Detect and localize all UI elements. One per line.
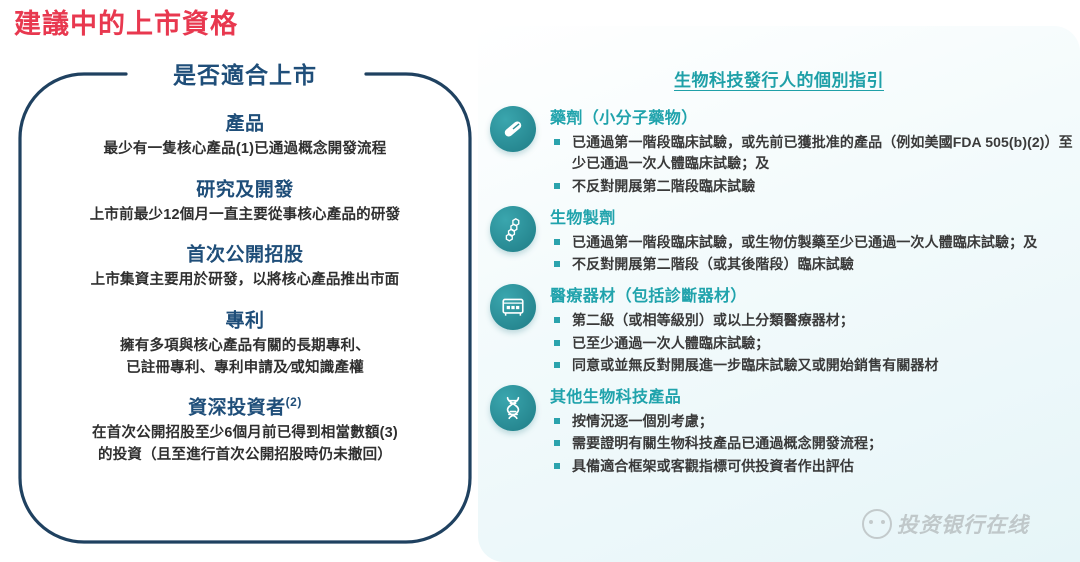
criteria-block-patent: 專利 擁有多項與核心產品有關的長期專利、 已註冊專利、專利申請及∕或知識產權 [14,307,476,379]
right-panel-guidance: 生物科技發行人的個別指引 藥劑（小分子藥物） 已通過第一階段臨床試驗，或先前已獲… [478,26,1080,562]
list-item: 需要證明有關生物科技產品已通過概念開發流程； [550,433,1080,454]
guidance-bullet-list: 第二級（或相等級別）或以上分類醫療器材； 已至少通過一次人體臨床試驗； 同意或並… [550,310,1080,376]
list-item: 已通過第一階段臨床試驗，或生物仿製藥至少已通過一次人體臨床試驗；及 [550,232,1080,253]
guidance-section-other-biotech: 其他生物科技產品 按情況逐一個別考慮； 需要證明有關生物科技產品已通過概念開發流… [478,385,1080,477]
right-panel-heading: 生物科技發行人的個別指引 [478,66,1080,91]
molecule-chain-icon [490,206,536,252]
pill-icon [490,106,536,152]
guidance-section-title: 醫療器材（包括診斷器材） [550,284,1080,307]
list-item: 按情況逐一個別考慮； [550,411,1080,432]
list-item: 不反對開展第二階段臨床試驗 [550,176,1080,197]
criteria-text: 上市前最少12個月一直主要從事核心產品的研發 [14,205,476,227]
criteria-title: 專利 [14,307,476,335]
left-panel-heading: 是否適合上市 [14,56,476,90]
left-panel-blocks: 產品 最少有一隻核心產品(1)已通過概念開發流程 研究及開發 上市前最少12個月… [14,110,476,482]
list-item: 不反對開展第二階段（或其後階段）臨床試驗 [550,254,1080,275]
criteria-block-product: 產品 最少有一隻核心產品(1)已通過概念開發流程 [14,110,476,161]
list-item: 已通過第一階段臨床試驗，或先前已獲批准的產品（例如美國FDA 505(b)(2)… [550,132,1080,175]
list-item: 同意或並無反對開展進一步臨床試驗又或開始銷售有關器材 [550,355,1080,376]
guidance-sections: 藥劑（小分子藥物） 已通過第一階段臨床試驗，或先前已獲批准的產品（例如美國FDA… [478,106,1080,486]
list-item: 第二級（或相等級別）或以上分類醫療器材； [550,310,1080,331]
list-item: 具備適合框架或客觀指標可供投資者作出評估 [550,456,1080,477]
page-title: 建議中的上市資格 [14,2,238,41]
criteria-text: 擁有多項與核心產品有關的長期專利、 已註冊專利、專利申請及∕或知識產權 [14,336,476,380]
criteria-text: 最少有一隻核心產品(1)已通過概念開發流程 [14,139,476,161]
guidance-section-title: 生物製劑 [550,206,1080,229]
guidance-bullet-list: 按情況逐一個別考慮； 需要證明有關生物科技產品已通過概念開發流程； 具備適合框架… [550,411,1080,477]
criteria-title: 研究及開發 [14,176,476,204]
criteria-text: 在首次公開招股至少6個月前已得到相當數額(3) 的投資（且至進行首次公開招股時仍… [14,423,476,467]
criteria-title: 產品 [14,110,476,138]
criteria-title: 資深投資者(2) [14,394,476,422]
left-panel-suitability: 是否適合上市 產品 最少有一隻核心產品(1)已通過概念開發流程 研究及開發 上市… [14,68,476,546]
guidance-section-biologics: 生物製劑 已通過第一階段臨床試驗，或生物仿製藥至少已通過一次人體臨床試驗；及 不… [478,206,1080,276]
guidance-section-title: 藥劑（小分子藥物） [550,106,1080,129]
criteria-block-ipo: 首次公開招股 上市集資主要用於研發，以將核心產品推出市面 [14,241,476,292]
dna-helix-icon [490,385,536,431]
guidance-bullet-list: 已通過第一階段臨床試驗，或先前已獲批准的產品（例如美國FDA 505(b)(2)… [550,132,1080,197]
criteria-block-sophisticated-investor: 資深投資者(2) 在首次公開招股至少6個月前已得到相當數額(3) 的投資（且至進… [14,394,476,466]
criteria-title: 首次公開招股 [14,241,476,269]
guidance-section-medical-device: 醫療器材（包括診斷器材） 第二級（或相等級別）或以上分類醫療器材； 已至少通過一… [478,284,1080,376]
guidance-bullet-list: 已通過第一階段臨床試驗，或生物仿製藥至少已通過一次人體臨床試驗；及 不反對開展第… [550,232,1080,276]
guidance-section-title: 其他生物科技產品 [550,385,1080,408]
list-item: 已至少通過一次人體臨床試驗； [550,333,1080,354]
criteria-text: 上市集資主要用於研發，以將核心產品推出市面 [14,270,476,292]
guidance-section-pharmaceutical: 藥劑（小分子藥物） 已通過第一階段臨床試驗，或先前已獲批准的產品（例如美國FDA… [478,106,1080,197]
medical-device-icon [490,284,536,330]
criteria-block-rnd: 研究及開發 上市前最少12個月一直主要從事核心產品的研發 [14,176,476,227]
